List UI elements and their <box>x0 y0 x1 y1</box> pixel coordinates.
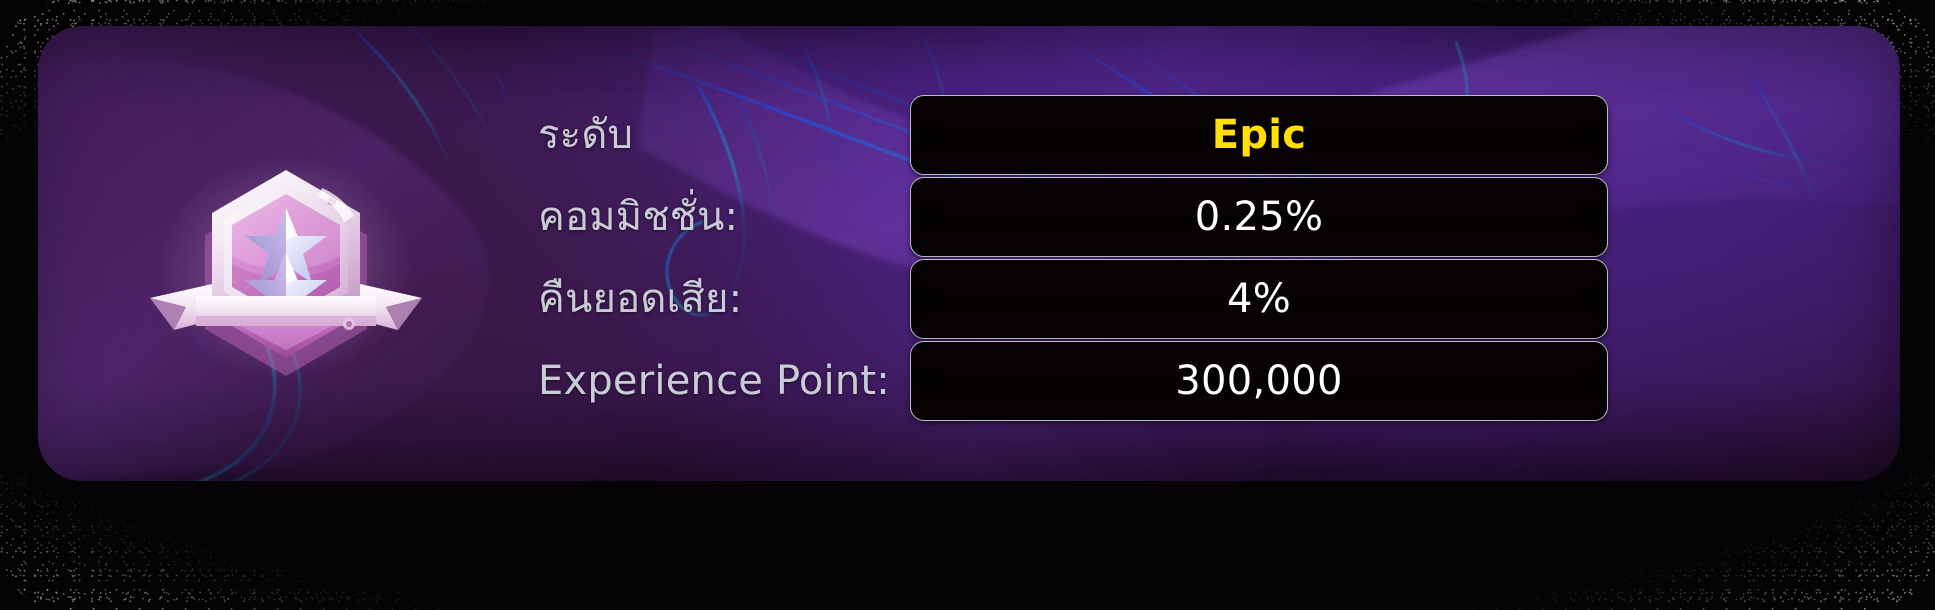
value-box-rank[interactable]: Epic <box>910 95 1608 175</box>
stat-row-cashback: คืนยอดเสีย: 4% <box>538 258 1608 340</box>
value-rank: Epic <box>1212 115 1307 155</box>
stat-row-experience-point: Experience Point: 300,000 <box>538 340 1608 422</box>
value-box-cashback[interactable]: 4% <box>910 259 1608 339</box>
stat-rows: ระดับ Epic คอมมิชชั่น: 0.25% คืนยอดเสีย:… <box>38 26 1900 481</box>
label-commission: คอมมิชชั่น: <box>538 197 910 237</box>
value-box-experience-point[interactable]: 300,000 <box>910 341 1608 421</box>
outer-frame: ระดับ Epic คอมมิชชั่น: 0.25% คืนยอดเสีย:… <box>0 0 1935 610</box>
label-rank: ระดับ <box>538 115 910 155</box>
value-commission: 0.25% <box>1195 197 1324 237</box>
label-experience-point: Experience Point: <box>538 361 910 401</box>
label-cashback: คืนยอดเสีย: <box>538 279 910 319</box>
value-box-commission[interactable]: 0.25% <box>910 177 1608 257</box>
value-experience-point: 300,000 <box>1175 361 1343 401</box>
value-cashback: 4% <box>1227 279 1291 319</box>
stat-row-rank: ระดับ Epic <box>538 94 1608 176</box>
stat-row-commission: คอมมิชชั่น: 0.25% <box>538 176 1608 258</box>
vip-tier-card: ระดับ Epic คอมมิชชั่น: 0.25% คืนยอดเสีย:… <box>38 26 1900 481</box>
